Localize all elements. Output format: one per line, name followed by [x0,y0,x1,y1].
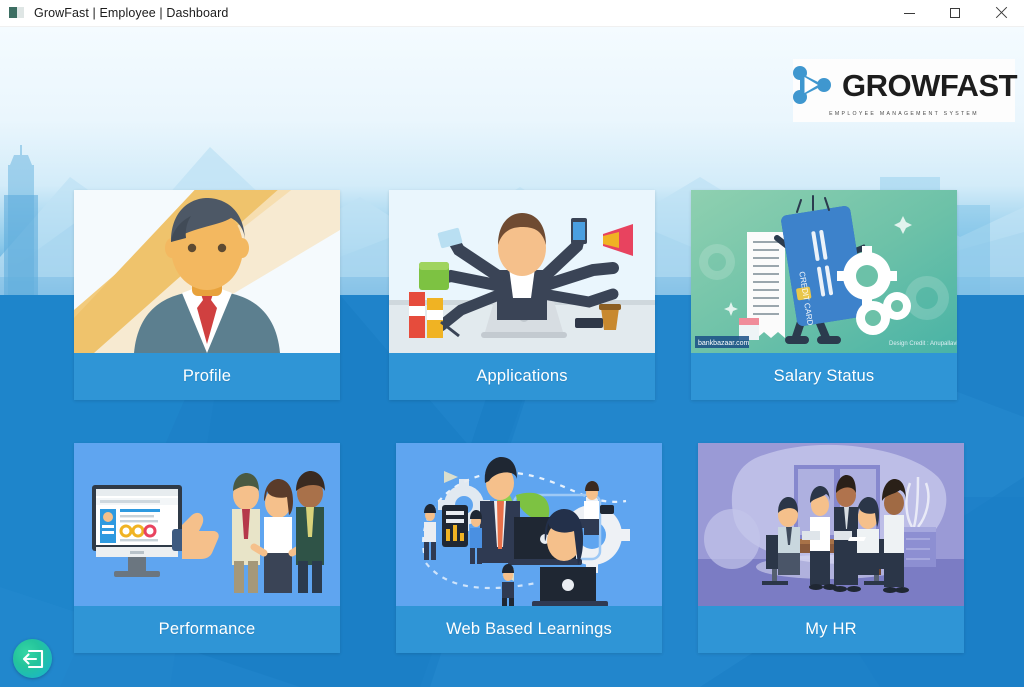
dashboard-tile-grid: Profile [0,27,1024,687]
growfast-logo-icon [791,64,833,106]
tile-label: Profile [74,353,340,400]
dashboard-tile-my-hr[interactable]: My HR [698,443,964,653]
close-button[interactable] [978,0,1024,27]
back-button[interactable] [13,639,52,678]
salary-watermark-right: Design Credit : Anupallavi Das [889,341,957,347]
tile-label: Web Based Learnings [396,606,662,653]
monitor-thumbsup-team-illustration [74,443,340,606]
dashboard-tile-applications[interactable]: Applications [389,190,655,400]
dashboard-page: GROWFAST EMPLOYEE MANAGEMENT SYSTEM [0,27,1024,687]
dashboard-tile-salary-status[interactable]: CREDIT CARD [691,190,957,400]
hr-meeting-room-illustration [698,443,964,606]
minimize-button[interactable] [886,0,932,27]
brand-name-part2: FAST [940,68,1017,103]
maximize-button[interactable] [932,0,978,27]
window-title: GrowFast | Employee | Dashboard [34,6,228,20]
brand-name-part1: GROW [842,68,940,103]
employee-avatar-illustration [74,190,340,353]
online-learning-gears-illustration [396,443,662,606]
tile-label: Salary Status [691,353,957,400]
salary-watermark-left: bankbazaar.com [698,340,750,347]
close-icon [995,7,1007,19]
dashboard-tile-web-based-learnings[interactable]: Web Based Learnings [396,443,662,653]
dashboard-tile-performance[interactable]: Performance [74,443,340,653]
brand-wordmark: GROWFAST [842,70,1017,101]
window-titlebar: GrowFast | Employee | Dashboard [0,0,1024,27]
brand-tagline: EMPLOYEE MANAGEMENT SYSTEM [829,111,979,117]
tile-label: Performance [74,606,340,653]
tile-label: Applications [389,353,655,400]
window-controls [886,0,1024,27]
dashboard-tile-profile[interactable]: Profile [74,190,340,400]
minimize-icon [904,13,915,14]
app-icon [9,6,25,20]
credit-card-character-gears-illustration: CREDIT CARD [691,190,957,353]
multitasking-employee-illustration [389,190,655,353]
brand-logo: GROWFAST EMPLOYEE MANAGEMENT SYSTEM [793,59,1015,122]
back-arrow-icon [21,648,45,670]
tile-label: My HR [698,606,964,653]
maximize-icon [950,8,960,18]
